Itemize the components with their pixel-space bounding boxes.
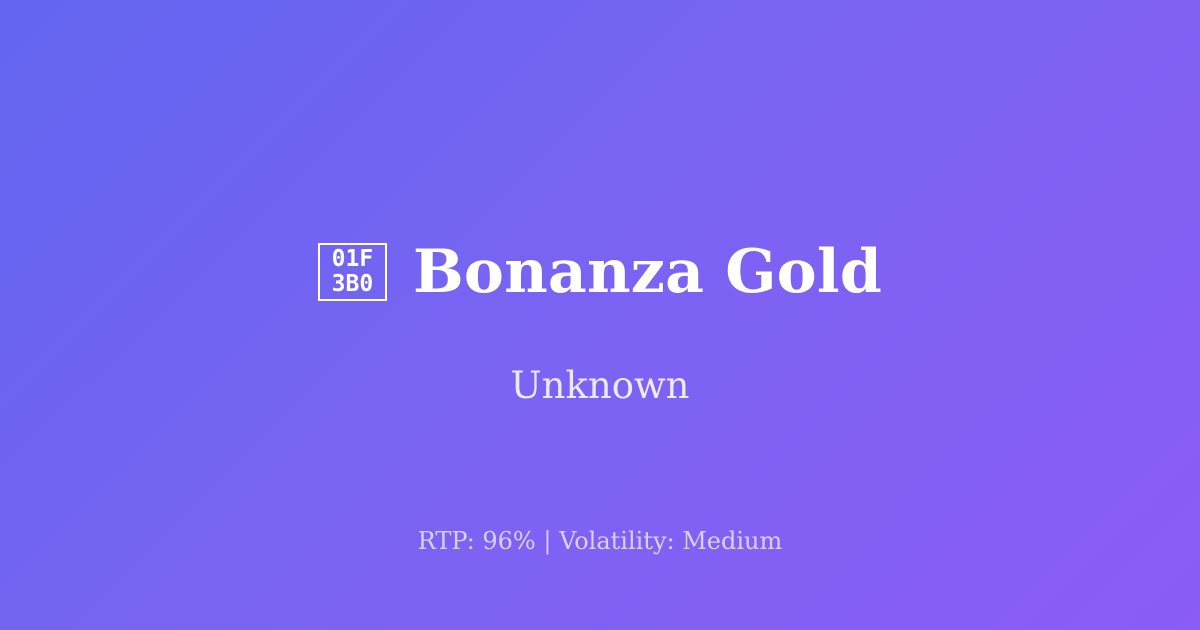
game-info-card: 01F 3B0 Bonanza Gold Unknown RTP: 96% | … [0, 0, 1200, 630]
slot-machine-icon-codepoint-low: 3B0 [332, 272, 374, 297]
game-stats: RTP: 96% | Volatility: Medium [0, 526, 1200, 557]
game-title: Bonanza Gold [413, 242, 882, 302]
game-provider: Unknown [0, 364, 1200, 408]
slot-machine-icon: 01F 3B0 [318, 243, 387, 301]
slot-machine-icon-codepoint-high: 01F [332, 247, 374, 272]
title-row: 01F 3B0 Bonanza Gold [0, 233, 1200, 311]
